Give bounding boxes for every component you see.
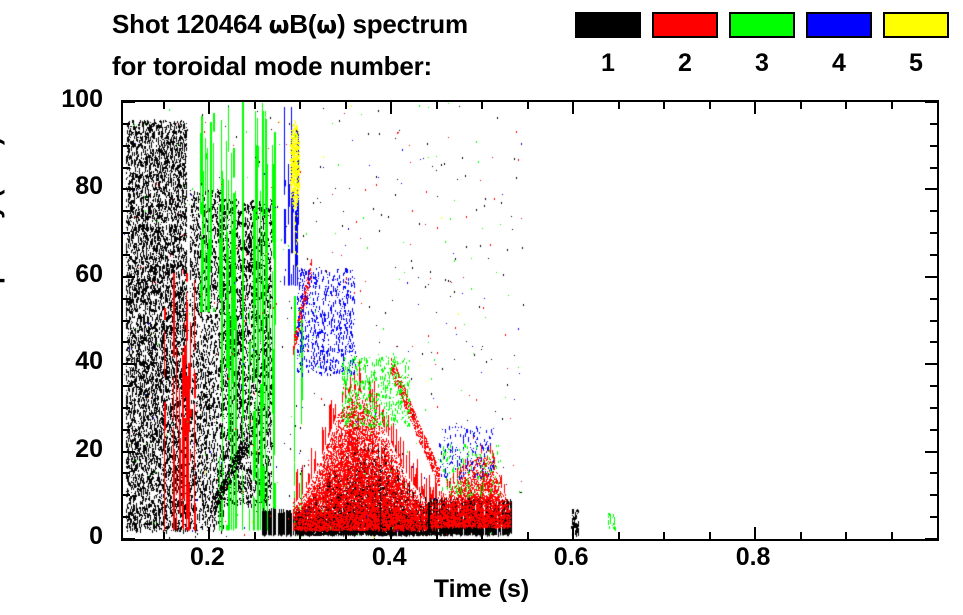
x-tick [436, 532, 438, 539]
x-axis-title: Time (s) [0, 575, 963, 604]
x-tick [845, 102, 847, 109]
figure-title-line-1: Shot 120464 ωB(ω) spectrum [112, 9, 468, 40]
x-tick [481, 102, 483, 109]
x-tick [299, 102, 301, 109]
x-tick [254, 532, 256, 539]
y-tick [925, 188, 937, 190]
x-tick [709, 102, 711, 109]
y-tick [930, 494, 937, 496]
y-tick [123, 254, 130, 256]
y-tick [123, 320, 130, 322]
legend-entry-2: 2 [652, 12, 718, 76]
x-tick [572, 527, 574, 539]
y-tick [930, 167, 937, 169]
y-tick [123, 429, 130, 431]
y-tick [123, 298, 130, 300]
legend-entry-1: 1 [575, 12, 641, 76]
x-tick [754, 102, 756, 114]
x-tick-label: 0.2 [162, 545, 252, 570]
omega-symbol-1: ω [269, 11, 290, 39]
x-tick [527, 532, 529, 539]
legend-label-mode-1: 1 [575, 50, 641, 76]
legend-label-mode-2: 2 [652, 50, 718, 76]
y-tick [123, 407, 130, 409]
y-tick [123, 232, 130, 234]
y-tick [930, 123, 937, 125]
y-tick-label: 60 [47, 262, 103, 287]
y-tick-label: 80 [47, 174, 103, 199]
y-tick [930, 320, 937, 322]
x-tick-label: 0.8 [708, 545, 798, 570]
y-tick [930, 145, 937, 147]
x-tick [800, 532, 802, 539]
y-tick [123, 363, 135, 365]
x-tick [345, 532, 347, 539]
y-tick [123, 516, 130, 518]
x-tick [254, 102, 256, 109]
x-tick [163, 532, 165, 539]
x-tick [390, 102, 392, 114]
y-tick [123, 210, 130, 212]
plot-area [121, 100, 939, 541]
y-tick [123, 123, 130, 125]
y-tick-label: 100 [47, 87, 103, 112]
y-tick [930, 298, 937, 300]
y-tick [123, 341, 130, 343]
x-tick [891, 532, 893, 539]
omega-symbol-2: ω [316, 11, 337, 39]
x-tick [572, 102, 574, 114]
y-tick [123, 385, 130, 387]
x-tick [663, 532, 665, 539]
y-tick [123, 101, 135, 103]
y-tick [123, 276, 135, 278]
y-tick [930, 472, 937, 474]
title-text-post: ) spectrum [337, 9, 468, 39]
x-tick [800, 102, 802, 109]
x-tick-label: 0.6 [526, 545, 616, 570]
legend-label-mode-5: 5 [883, 50, 949, 76]
legend-label-mode-3: 3 [729, 50, 795, 76]
legend-entry-5: 5 [883, 12, 949, 76]
x-tick [299, 532, 301, 539]
x-tick [481, 532, 483, 539]
title-text-mid: B( [289, 9, 316, 39]
x-tick [436, 102, 438, 109]
y-tick [925, 538, 937, 540]
y-tick [930, 232, 937, 234]
x-tick [754, 527, 756, 539]
x-tick [618, 532, 620, 539]
y-tick [925, 363, 937, 365]
y-tick [123, 538, 135, 540]
y-tick [930, 210, 937, 212]
y-tick [123, 494, 130, 496]
x-tick-label: 0.4 [344, 545, 434, 570]
x-tick [891, 102, 893, 109]
x-tick [208, 527, 210, 539]
legend-swatch-mode-3 [729, 12, 795, 38]
y-tick [123, 167, 130, 169]
x-tick [527, 102, 529, 109]
legend-swatch-mode-2 [652, 12, 718, 38]
x-tick [709, 532, 711, 539]
spectrogram-canvas [123, 102, 937, 539]
y-tick [925, 276, 937, 278]
legend-swatch-mode-5 [883, 12, 949, 38]
legend-swatch-mode-1 [575, 12, 641, 38]
figure-title-line-2: for toroidal mode number: [112, 51, 432, 82]
y-axis-title: Frequency (kHz) [0, 137, 7, 331]
x-tick [618, 102, 620, 109]
mode-number-legend: 12345 [575, 12, 950, 90]
x-tick [208, 102, 210, 114]
y-tick [930, 341, 937, 343]
x-tick [845, 532, 847, 539]
y-tick [123, 472, 130, 474]
y-tick [930, 516, 937, 518]
y-tick [930, 407, 937, 409]
y-tick [925, 451, 937, 453]
y-tick-label: 20 [47, 437, 103, 462]
y-tick [930, 385, 937, 387]
y-tick [123, 451, 135, 453]
y-tick [930, 429, 937, 431]
y-tick-label: 40 [47, 349, 103, 374]
legend-entry-4: 4 [806, 12, 872, 76]
legend-label-mode-4: 4 [806, 50, 872, 76]
x-tick [163, 102, 165, 109]
title-text-pre: Shot 120464 [112, 9, 269, 39]
legend-swatch-mode-4 [806, 12, 872, 38]
x-tick [345, 102, 347, 109]
y-tick [930, 254, 937, 256]
x-tick [663, 102, 665, 109]
y-tick-label: 0 [47, 524, 103, 549]
y-tick [123, 145, 130, 147]
x-tick [390, 527, 392, 539]
legend-entry-3: 3 [729, 12, 795, 76]
spectrogram-figure: Shot 120464 ωB(ω) spectrum for toroidal … [0, 0, 963, 615]
y-tick [925, 101, 937, 103]
y-tick [123, 188, 135, 190]
